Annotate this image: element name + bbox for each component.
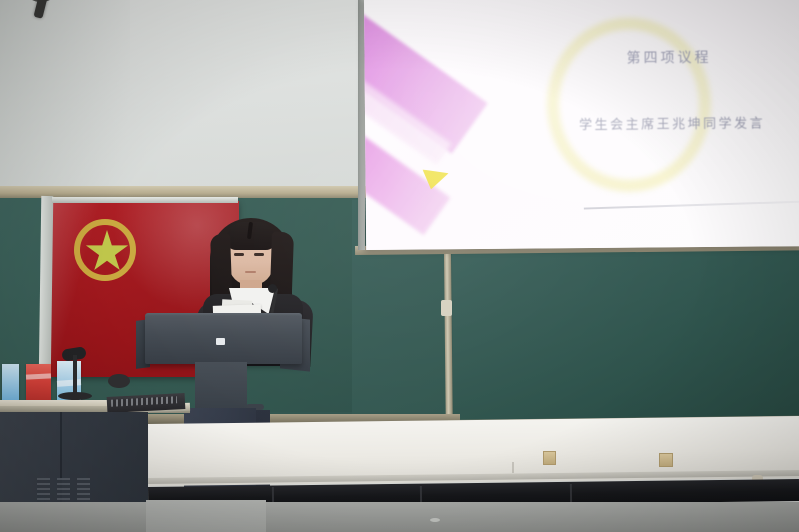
flag-tape-top <box>52 197 238 203</box>
eye-left <box>234 253 244 256</box>
presentation-slide: 第四项议程 学生会主席王兆坤同学发言 <box>364 0 799 250</box>
lectern-badge-icon <box>216 338 225 345</box>
floor-speck <box>430 518 440 522</box>
slide-underline <box>584 201 799 210</box>
floor <box>0 502 799 532</box>
box-light-blue-left <box>2 364 19 402</box>
chalkboard-clip-icon <box>441 300 452 316</box>
box-red <box>26 364 51 402</box>
table-microphone-stem <box>73 355 77 395</box>
chalkboard-panel-right <box>452 249 799 424</box>
slide-halo-circle <box>546 17 712 192</box>
wall-outlet-1 <box>543 451 556 465</box>
upper-wall-shadow <box>0 0 130 205</box>
eye-right <box>254 253 264 256</box>
lectern-column <box>195 362 247 410</box>
desk-object <box>108 374 130 388</box>
slide-subtitle: 学生会主席王兆坤同学发言 <box>579 113 765 134</box>
projection-screen: 第四项议程 学生会主席王兆坤同学发言 <box>364 0 799 250</box>
wall-mark <box>512 462 514 473</box>
star-emblem-icon <box>74 219 144 289</box>
classroom-scene: 第四项议程 学生会主席王兆坤同学发言 <box>0 0 799 532</box>
wall-outlet-2 <box>659 453 673 467</box>
floor-left <box>146 500 266 532</box>
podium-microphone-icon <box>268 284 277 293</box>
slide-title: 第四项议程 <box>626 47 711 68</box>
mouth <box>245 271 256 273</box>
table-microphone-base <box>58 392 92 400</box>
